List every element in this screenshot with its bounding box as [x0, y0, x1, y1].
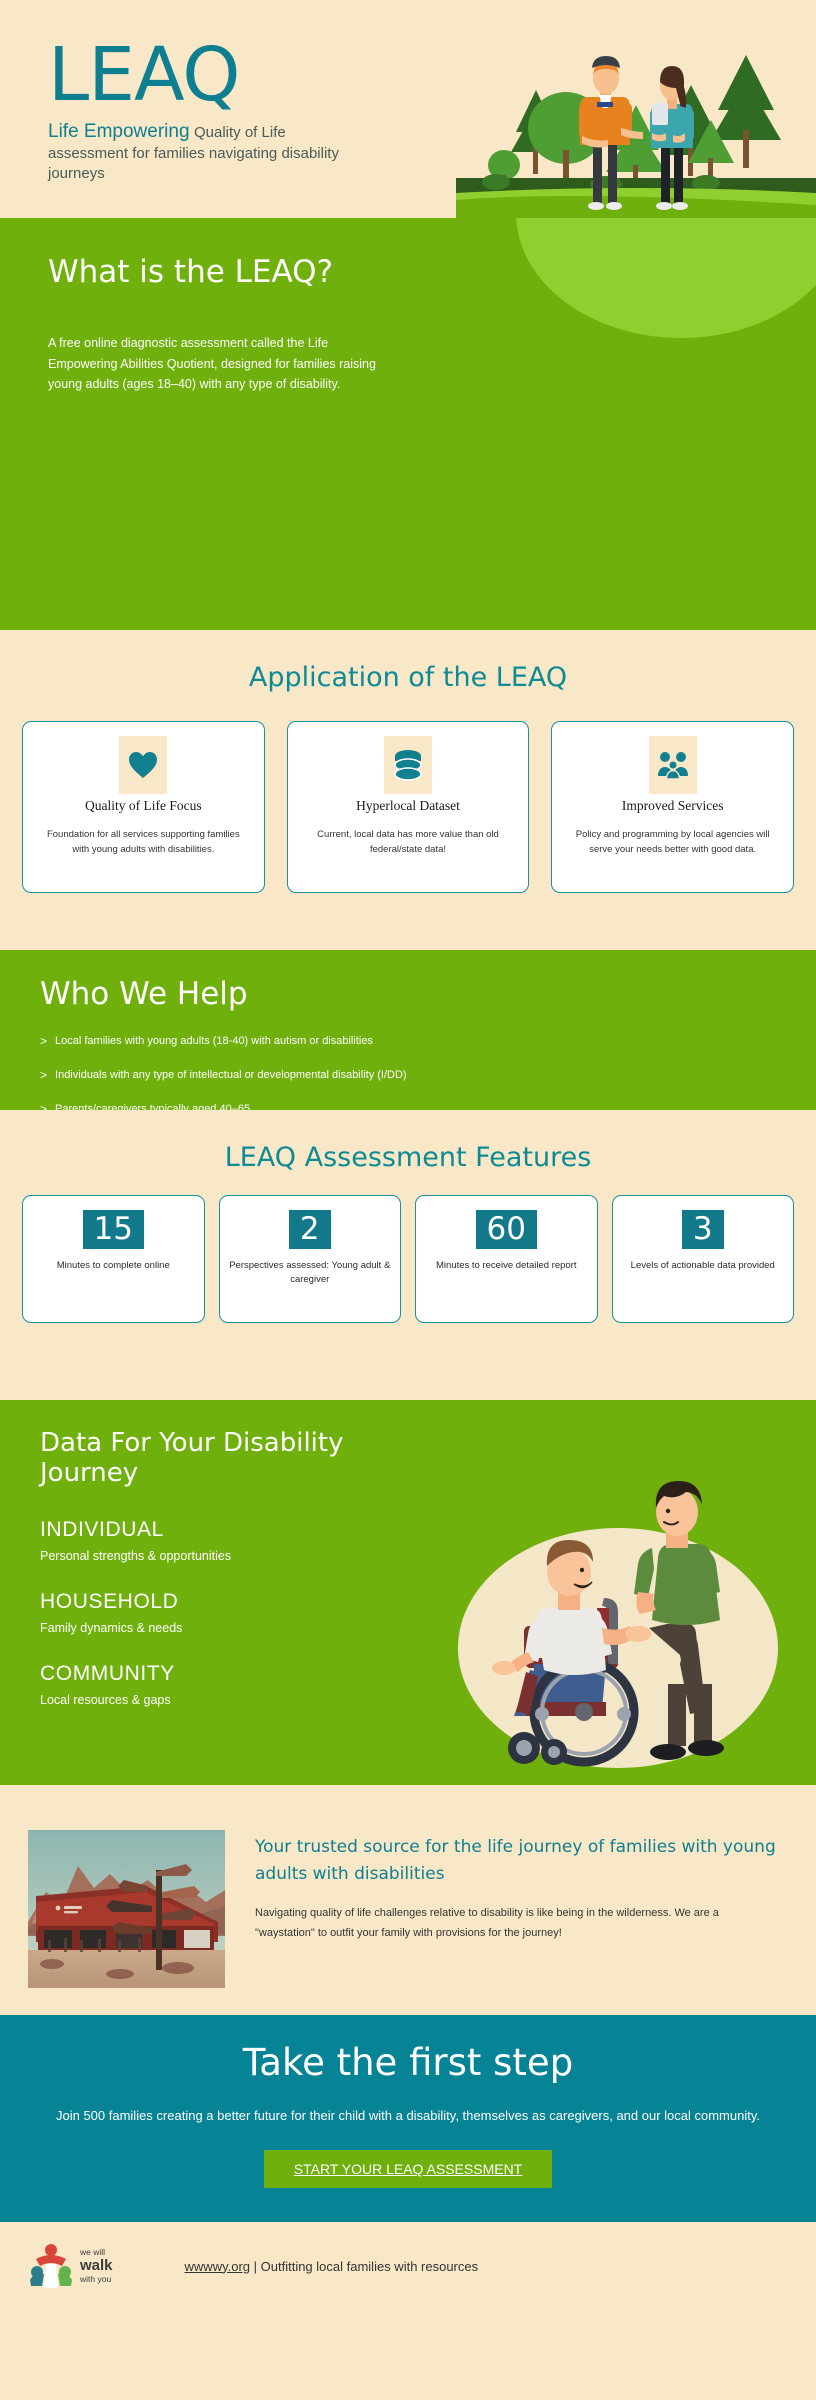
footer-url-link[interactable]: wwwwy.org — [185, 2259, 251, 2274]
waystation-building-mountains-photo — [28, 1830, 225, 1988]
who-we-help-list: > Local families with young adults (18-4… — [40, 1034, 816, 1116]
stat-label: Minutes to complete online — [23, 1259, 204, 1274]
trusted-source-heading: Your trusted source for the life journey… — [255, 1834, 776, 1888]
header-banner: LEAQ Life Empowering Quality of Life ass… — [0, 0, 816, 218]
card-title: Hyperlocal Dataset — [288, 798, 529, 814]
card-title: Improved Services — [552, 798, 793, 814]
section-assessment-features: LEAQ Assessment Features 15 Minutes to c… — [0, 1110, 816, 1400]
who-list-item: > Local families with young adults (18-4… — [40, 1034, 816, 1048]
who-list-item: > Individuals with any type of intellect… — [40, 1068, 816, 1082]
stat-card-row: 15 Minutes to complete online 2 Perspect… — [0, 1173, 816, 1323]
footer-tagline-text: Outfitting local families with resources — [261, 2259, 478, 2274]
card-title: Quality of Life Focus — [23, 798, 264, 814]
footer-tagline-line: wwwwy.org | Outfitting local families wi… — [135, 2259, 479, 2274]
stat-card-data-levels: 3 Levels of actionable data provided — [612, 1195, 795, 1323]
section-what-is-leaq: What is the LEAQ? A free online diagnost… — [0, 218, 816, 630]
chevron-right-icon: > — [40, 1068, 47, 1082]
stat-card-minutes-online: 15 Minutes to complete online — [22, 1195, 205, 1323]
card-body: Current, local data has more value than … — [288, 827, 529, 857]
couple-in-forest-illustration — [456, 0, 816, 218]
assessment-features-title: LEAQ Assessment Features — [0, 1110, 816, 1173]
stat-label: Minutes to receive detailed report — [416, 1259, 597, 1274]
section-application: Application of the LEAQ Quality of Life … — [0, 630, 816, 950]
data-journey-title: Data For Your Disability Journey — [40, 1428, 400, 1488]
card-body: Policy and programming by local agencies… — [552, 827, 793, 857]
who-list-item-label: Local families with young adults (18-40)… — [55, 1035, 373, 1047]
data-level-community-desc: Local resources & gaps — [40, 1693, 400, 1707]
stat-card-report-minutes: 60 Minutes to receive detailed report — [415, 1195, 598, 1323]
footer-separator: | — [250, 2259, 261, 2274]
section-cta: Take the first step Join 500 families cr… — [0, 2015, 816, 2222]
who-we-help-title: Who We Help — [40, 976, 816, 1012]
application-card-row: Quality of Life Focus Foundation for all… — [0, 693, 816, 893]
three-people-logo-icon — [28, 2242, 74, 2290]
logo-line-3: with you — [80, 2275, 113, 2285]
heart-icon — [119, 736, 167, 794]
data-journey-text: Data For Your Disability Journey INDIVID… — [40, 1428, 400, 1734]
trusted-source-copy: Your trusted source for the life journey… — [255, 1830, 776, 2015]
trusted-source-body: Navigating quality of life challenges re… — [255, 1904, 776, 1944]
stat-number: 15 — [83, 1210, 144, 1249]
database-icon — [384, 736, 432, 794]
application-card-hyperlocal-dataset: Hyperlocal Dataset Current, local data h… — [287, 721, 530, 893]
section-trusted-source: Your trusted source for the life journey… — [0, 1785, 816, 2015]
stat-number: 60 — [476, 1210, 537, 1249]
cta-heading: Take the first step — [0, 2041, 816, 2084]
section-data-journey: Data For Your Disability Journey INDIVID… — [0, 1400, 816, 1785]
footer-bar: we will walk with you wwwwy.org | Outfit… — [0, 2222, 816, 2310]
section-who-we-help: Who We Help > Local families with young … — [0, 950, 816, 1110]
wheelchair-caregiver-illustration — [406, 1412, 806, 1782]
stat-number: 2 — [289, 1210, 331, 1249]
data-level-individual-desc: Personal strengths & opportunities — [40, 1549, 400, 1563]
what-is-title: What is the LEAQ? — [48, 254, 333, 290]
cta-paragraph: Join 500 families creating a better futu… — [0, 2104, 816, 2128]
stat-number: 3 — [682, 1210, 724, 1249]
logo-wordmark-text: we will walk with you — [80, 2248, 113, 2285]
data-level-community: COMMUNITY — [40, 1662, 400, 1686]
people-group-icon — [649, 736, 697, 794]
stat-label: Levels of actionable data provided — [613, 1259, 794, 1274]
stat-card-perspectives: 2 Perspectives assessed: Young adult & c… — [219, 1195, 402, 1323]
data-level-household-desc: Family dynamics & needs — [40, 1621, 400, 1635]
logo-line-1: we will — [80, 2248, 113, 2258]
stat-label: Perspectives assessed: Young adult & car… — [220, 1259, 401, 1288]
card-body: Foundation for all services supporting f… — [23, 827, 264, 857]
what-is-body: A free online diagnostic assessment call… — [48, 333, 378, 395]
start-assessment-button[interactable]: START YOUR LEAQ ASSESSMENT — [264, 2150, 552, 2188]
header-tagline: Life Empowering Quality of Life assessme… — [48, 120, 368, 184]
data-level-household: HOUSEHOLD — [40, 1590, 400, 1614]
logo-line-2: walk — [80, 2257, 113, 2274]
who-list-item-label: Individuals with any type of intellectua… — [55, 1069, 407, 1081]
wewillwalkwithyou-logo: we will walk with you — [28, 2242, 113, 2290]
tagline-strong: Life Empowering — [48, 121, 190, 142]
application-card-quality-of-life: Quality of Life Focus Foundation for all… — [22, 721, 265, 893]
brand-logo-block: LEAQ Life Empowering Quality of Life ass… — [48, 38, 368, 184]
logo-leaq-wordmark: LEAQ — [48, 38, 368, 112]
application-title: Application of the LEAQ — [0, 630, 816, 693]
data-level-individual: INDIVIDUAL — [40, 1518, 400, 1542]
decorative-blob — [516, 218, 816, 338]
application-card-improved-services: Improved Services Policy and programming… — [551, 721, 794, 893]
chevron-right-icon: > — [40, 1034, 47, 1048]
